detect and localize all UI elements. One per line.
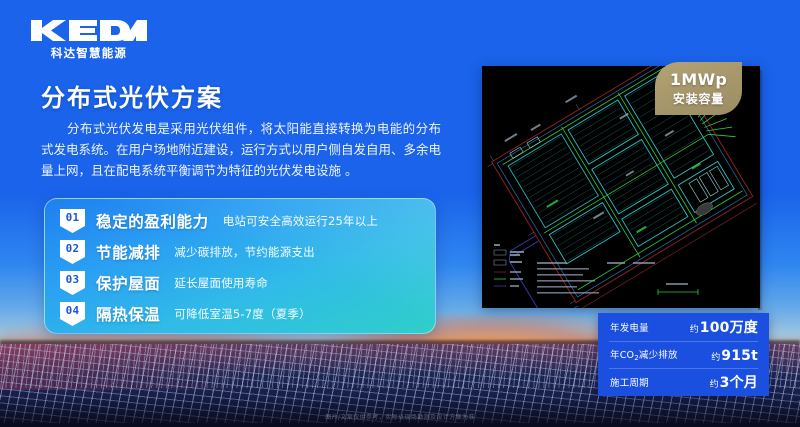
list-item[interactable]: 03 保护屋面 延长屋面使用寿命 bbox=[45, 267, 435, 298]
stat-value: 约3个月 bbox=[710, 372, 758, 392]
table-row: 施工周期 约3个月 bbox=[598, 368, 769, 396]
stat-approx: 约 bbox=[690, 325, 699, 335]
feature-desc: 减少碳排放，节约能源支出 bbox=[174, 244, 314, 260]
list-item[interactable]: 04 隔热保温 可降低室温5-7度（夏季） bbox=[45, 298, 435, 329]
intro-paragraph: 分布式光伏发电是采用光伏组件，将太阳能直接转换为电能的分布式发电系统。在用户场地… bbox=[41, 118, 441, 181]
list-item[interactable]: 02 节能减排 减少碳排放，节约能源支出 bbox=[45, 236, 435, 267]
badge-number: 01 bbox=[60, 211, 85, 224]
keda-logo-icon bbox=[29, 18, 149, 44]
stat-label: 年CO2减少排放 bbox=[610, 347, 678, 361]
table-row: 年发电量 约100万度 bbox=[598, 313, 769, 341]
stat-label: 施工周期 bbox=[610, 375, 649, 389]
number-badge-icon: 03 bbox=[60, 271, 85, 295]
capacity-badge: 1MWp 安装容量 bbox=[655, 62, 742, 115]
cad-panel-shadow bbox=[758, 70, 763, 310]
capacity-value: 1MWp bbox=[670, 70, 727, 89]
number-badge-icon: 02 bbox=[60, 240, 85, 264]
feature-title: 节能减排 bbox=[96, 241, 160, 263]
feature-title: 稳定的盈利能力 bbox=[96, 210, 209, 232]
stat-number: 3个月 bbox=[720, 375, 758, 391]
features-list: 01 稳定的盈利能力 电站可安全高效运行25年以上 02 节能减排 减少碳排放，… bbox=[45, 205, 435, 329]
feature-desc: 电站可安全高效运行25年以上 bbox=[223, 213, 378, 229]
number-badge-icon: 01 bbox=[60, 209, 85, 233]
list-item[interactable]: 01 稳定的盈利能力 电站可安全高效运行25年以上 bbox=[45, 205, 435, 236]
table-row: 年CO2减少排放 约915t bbox=[598, 341, 769, 369]
badge-number: 02 bbox=[60, 242, 85, 255]
brand-sub-label: 科达智慧能源 bbox=[29, 45, 149, 61]
feature-desc: 可降低室温5-7度（夏季） bbox=[174, 306, 310, 322]
co2-subscript: 2 bbox=[634, 354, 639, 362]
stat-label: 年发电量 bbox=[610, 320, 649, 334]
footer-disclaimer: 图片/文案仅供参考，实际以现场勘测及设计方案为准 bbox=[0, 412, 800, 421]
brand-logo: 科达智慧能源 bbox=[29, 18, 149, 61]
feature-title: 保护屋面 bbox=[96, 272, 160, 294]
stats-panel: 年发电量 约100万度 年CO2减少排放 约915t 施工周期 约3个月 bbox=[598, 313, 769, 396]
slide-canvas: 科达智慧能源 分布式光伏方案 分布式光伏发电是采用光伏组件，将太阳能直接转换为电… bbox=[0, 0, 800, 427]
features-card: 01 稳定的盈利能力 电站可安全高效运行25年以上 02 节能减排 减少碳排放，… bbox=[44, 198, 436, 334]
stat-approx: 约 bbox=[711, 353, 720, 363]
capacity-label: 安装容量 bbox=[673, 90, 724, 107]
stat-value: 约100万度 bbox=[690, 317, 758, 337]
badge-number: 03 bbox=[60, 273, 85, 286]
stat-value: 约915t bbox=[711, 345, 758, 364]
stat-number: 100万度 bbox=[700, 320, 758, 336]
stat-approx: 约 bbox=[710, 380, 719, 390]
feature-title: 隔热保温 bbox=[96, 303, 160, 325]
badge-number: 04 bbox=[60, 304, 85, 317]
stat-number: 915t bbox=[721, 348, 758, 364]
page-title: 分布式光伏方案 bbox=[41, 78, 223, 113]
number-badge-icon: 04 bbox=[60, 302, 85, 326]
feature-desc: 延长屋面使用寿命 bbox=[174, 275, 268, 291]
